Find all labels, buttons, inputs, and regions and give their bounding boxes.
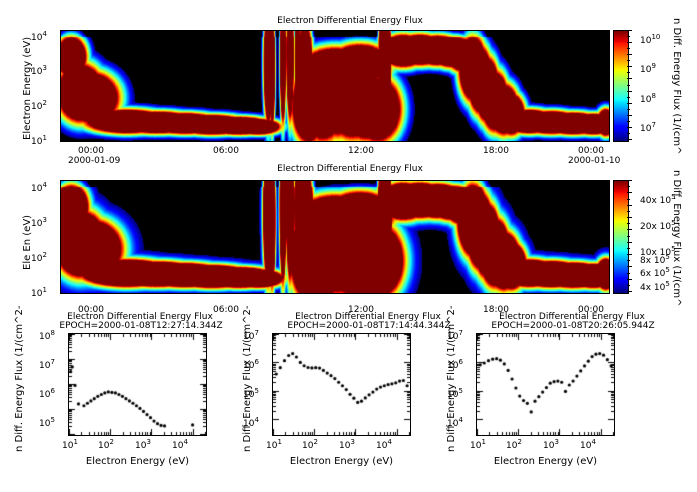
top-colorbar-ticks bbox=[627, 30, 639, 140]
colorbar-tick bbox=[627, 205, 632, 206]
top-xdate-left: 2000-01-09 bbox=[68, 156, 120, 166]
spectrum-3-xlabel: Electron Energy (eV) bbox=[463, 456, 628, 467]
colorbar-tick bbox=[627, 291, 632, 292]
s3-ytick-6: 106 bbox=[447, 358, 463, 371]
s1-xtick-2: 102 bbox=[98, 438, 114, 451]
spectrum-1-plot bbox=[68, 333, 207, 436]
colorbar-tick bbox=[627, 285, 630, 286]
colorbar-tick bbox=[627, 279, 632, 280]
top-xtick-0: 00:00 bbox=[78, 146, 104, 156]
spectrum-1-ylabel: n Diff. Energy Flux (1/(cm^2- bbox=[14, 305, 25, 452]
colorbar-tick bbox=[627, 133, 630, 134]
s1-ytick-7: 107 bbox=[39, 358, 55, 371]
top-ytick-2: 102 bbox=[31, 99, 47, 112]
mid-cbtick-4: 4x 105 bbox=[640, 280, 670, 293]
colorbar-tick bbox=[627, 273, 630, 274]
colorbar-tick bbox=[627, 78, 632, 79]
top-ytick-4: 104 bbox=[31, 30, 47, 43]
colorbar-tick bbox=[627, 109, 630, 110]
s3-ytick-4: 104 bbox=[447, 416, 463, 429]
colorbar-tick bbox=[627, 115, 632, 116]
s2-ytick-4: 104 bbox=[243, 416, 259, 429]
colorbar-tick bbox=[627, 186, 630, 187]
spectrum-1-epoch: EPOCH=2000-01-08T12:27:14.344Z bbox=[26, 321, 256, 331]
s2-ytick-7: 107 bbox=[243, 329, 259, 342]
s2-xtick-1: 101 bbox=[266, 438, 282, 451]
mid-ytick-4: 104 bbox=[31, 181, 47, 194]
top-cbtick-3: 1010 bbox=[640, 33, 660, 46]
top-spectrogram-plot bbox=[60, 30, 610, 142]
colorbar-tick bbox=[627, 91, 632, 92]
top-cbtick-0: 107 bbox=[640, 121, 656, 134]
colorbar-tick bbox=[627, 72, 630, 73]
s1-ytick-8: 108 bbox=[39, 329, 55, 342]
spectrum-1-xlabel: Electron Energy (eV) bbox=[55, 456, 220, 467]
colorbar-tick bbox=[627, 60, 630, 61]
colorbar-tick bbox=[627, 48, 630, 49]
s1-xtick-4: 104 bbox=[172, 438, 188, 451]
colorbar-tick bbox=[627, 242, 632, 243]
s1-xtick-1: 101 bbox=[62, 438, 78, 451]
spectrum-2-ylabel: n Diff. Energy Flux (1/(cm^2- bbox=[242, 305, 253, 452]
top-panel-title: Electron Differential Energy Flux bbox=[170, 16, 530, 26]
top-colorbar-label: n Diff. Energy Flux (1/(cm^ bbox=[671, 18, 682, 155]
middle-panel-title: Electron Differential Energy Flux bbox=[170, 164, 530, 174]
colorbar-tick bbox=[627, 223, 630, 224]
mid-cbtick-8: 8x 105 bbox=[640, 253, 670, 266]
middle-colorbar-label: n Diff. Energy Flux (1/(cm^ bbox=[671, 170, 682, 307]
s2-xtick-3: 103 bbox=[339, 438, 355, 451]
colorbar-tick bbox=[627, 236, 630, 237]
colorbar-tick bbox=[627, 103, 632, 104]
colorbar-tick bbox=[627, 180, 632, 181]
colorbar-tick bbox=[627, 121, 630, 122]
middle-spectrogram-plot bbox=[60, 180, 610, 294]
top-ytick-3: 103 bbox=[31, 64, 47, 77]
mid-ytick-1: 101 bbox=[31, 286, 47, 299]
top-ytick-1: 101 bbox=[31, 134, 47, 147]
top-cbtick-1: 108 bbox=[640, 92, 656, 105]
top-panel-ylabel: Electron Energy (eV) bbox=[22, 37, 33, 140]
s1-ytick-6: 106 bbox=[39, 387, 55, 400]
colorbar-tick bbox=[627, 229, 632, 230]
spectrum-3-epoch: EPOCH=2000-01-08T20:26:05.944Z bbox=[458, 321, 688, 331]
spectrum-3-ylabel: n Diff. Energy Flux (1/(cm^2- bbox=[446, 305, 457, 452]
colorbar-tick bbox=[627, 211, 630, 212]
s3-ytick-5: 105 bbox=[447, 387, 463, 400]
s3-xtick-1: 101 bbox=[470, 438, 486, 451]
mid-ytick-2: 102 bbox=[31, 251, 47, 264]
s3-xtick-4: 104 bbox=[580, 438, 596, 451]
s3-xtick-3: 103 bbox=[543, 438, 559, 451]
top-xtick-2: 12:00 bbox=[348, 146, 374, 156]
colorbar-tick bbox=[627, 266, 632, 267]
top-cbtick-2: 109 bbox=[640, 62, 656, 75]
colorbar-tick bbox=[627, 217, 632, 218]
colorbar-tick bbox=[627, 42, 632, 43]
s3-xtick-2: 102 bbox=[506, 438, 522, 451]
colorbar-tick bbox=[627, 254, 632, 255]
colorbar-tick bbox=[627, 199, 630, 200]
s2-ytick-5: 105 bbox=[243, 387, 259, 400]
s1-ytick-5: 105 bbox=[39, 416, 55, 429]
s2-ytick-6: 106 bbox=[243, 358, 259, 371]
s1-xtick-3: 103 bbox=[135, 438, 151, 451]
middle-colorbar-ticks bbox=[627, 180, 639, 292]
colorbar-tick bbox=[627, 30, 632, 31]
s2-xtick-2: 102 bbox=[302, 438, 318, 451]
spectrum-3-plot bbox=[476, 333, 615, 436]
colorbar-tick bbox=[627, 66, 632, 67]
top-xtick-3: 18:00 bbox=[483, 146, 509, 156]
mid-ytick-3: 103 bbox=[31, 216, 47, 229]
colorbar-tick bbox=[627, 85, 630, 86]
mid-cbtick-6: 6x 105 bbox=[640, 266, 670, 279]
colorbar-tick bbox=[627, 260, 630, 261]
top-xtick-4: 00:00 bbox=[578, 146, 604, 156]
spectrum-2-xlabel: Electron Energy (eV) bbox=[259, 456, 424, 467]
spectrum-2-plot bbox=[272, 333, 411, 436]
top-xdate-right: 2000-01-10 bbox=[568, 156, 620, 166]
colorbar-tick bbox=[627, 248, 630, 249]
colorbar-tick bbox=[627, 139, 632, 140]
top-xtick-1: 06:00 bbox=[213, 146, 239, 156]
colorbar-tick bbox=[627, 54, 632, 55]
s3-ytick-7: 107 bbox=[447, 329, 463, 342]
colorbar-tick bbox=[627, 192, 632, 193]
colorbar-tick bbox=[627, 36, 630, 37]
colorbar-tick bbox=[627, 97, 630, 98]
s2-xtick-4: 104 bbox=[376, 438, 392, 451]
colorbar-tick bbox=[627, 127, 632, 128]
